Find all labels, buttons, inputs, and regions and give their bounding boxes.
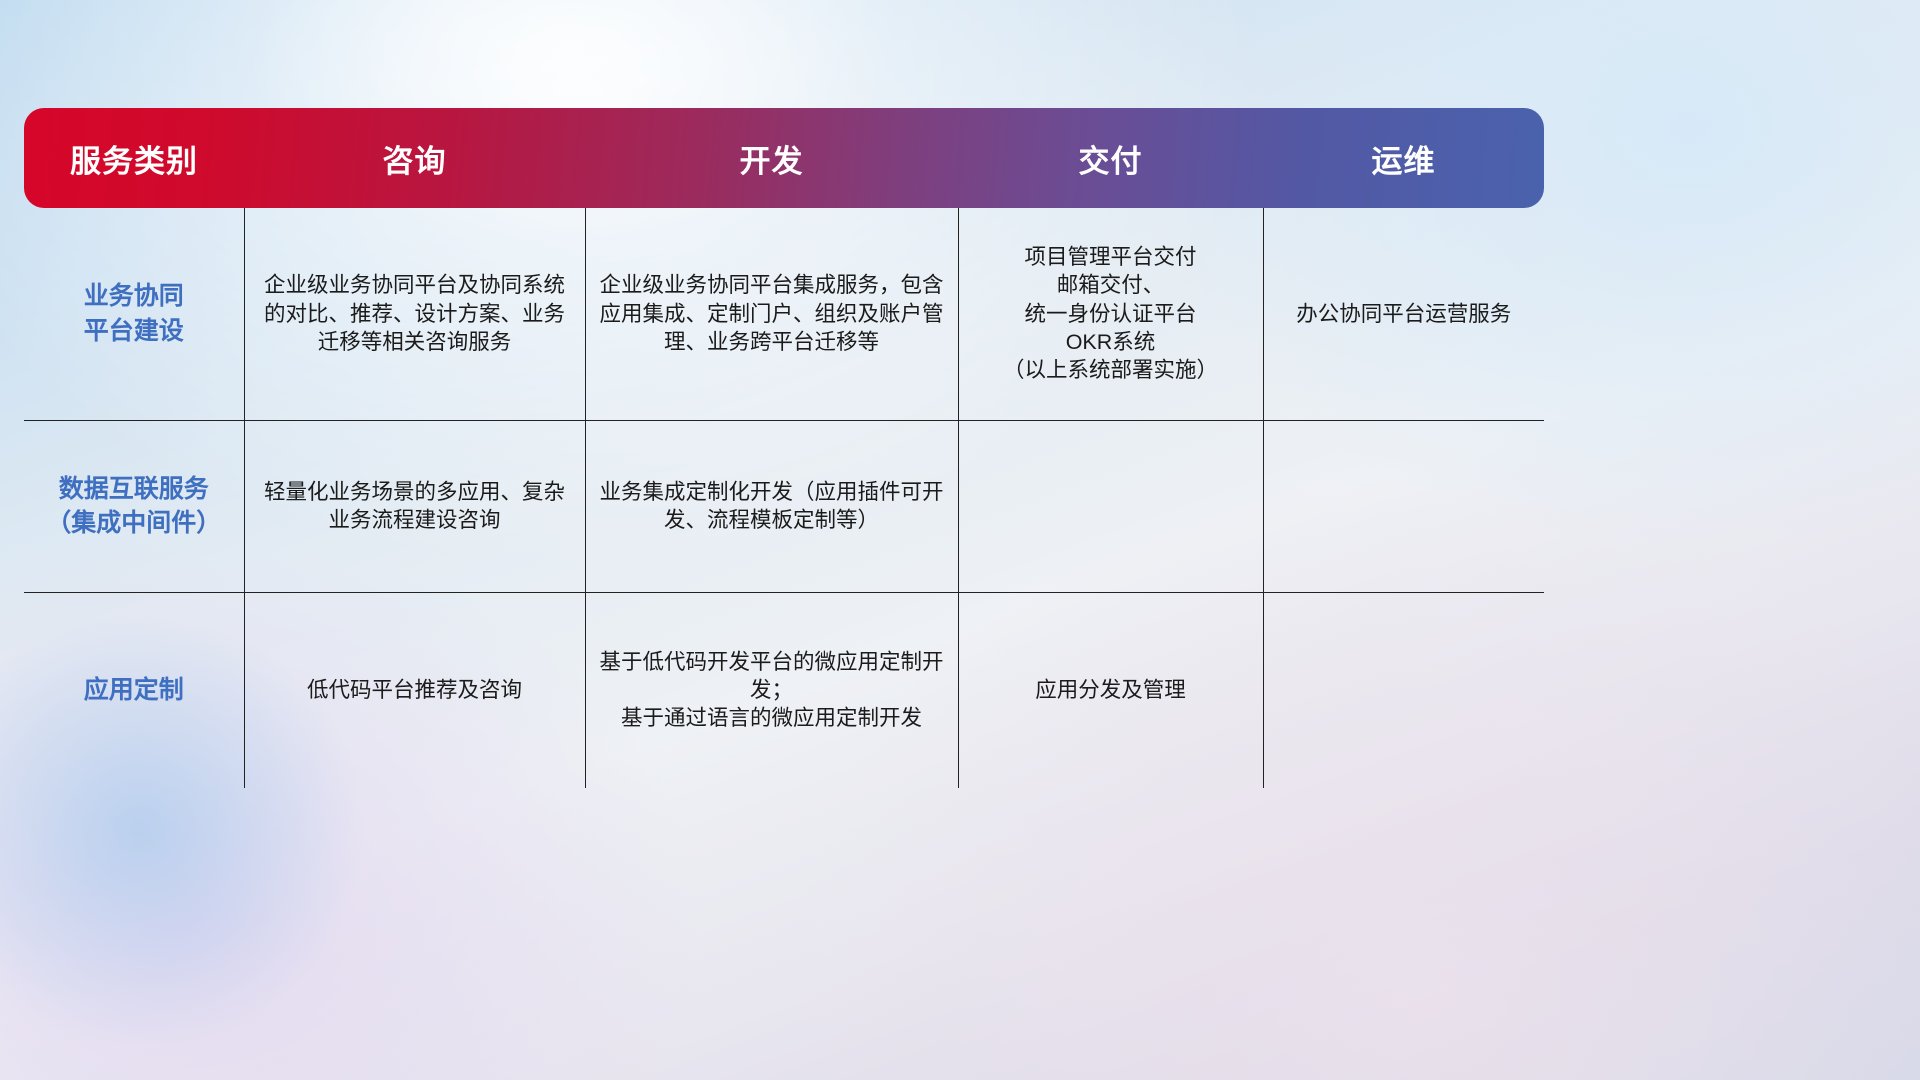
cell-category: 数据互联服务（集成中间件） [24, 420, 244, 592]
slide-canvas: 服务类别 咨询 开发 交付 运维 [0, 0, 1920, 1080]
table-body: 业务协同平台建设 企业级业务协同平台及协同系统的对比、推荐、设计方案、业务迁移等… [24, 208, 1544, 788]
cell-consulting: 轻量化业务场景的多应用、复杂业务流程建设咨询 [244, 420, 585, 592]
cell-operations [1263, 592, 1544, 788]
table-row: 应用定制 低代码平台推荐及咨询 基于低代码开发平台的微应用定制开发；基于通过语言… [24, 592, 1544, 788]
column-header-operations-label: 运维 [1263, 136, 1544, 181]
cell-delivery: 应用分发及管理 [958, 592, 1263, 788]
table-row: 数据互联服务（集成中间件） 轻量化业务场景的多应用、复杂业务流程建设咨询 业务集… [24, 420, 1544, 592]
cell-consulting: 企业级业务协同平台及协同系统的对比、推荐、设计方案、业务迁移等相关咨询服务 [244, 208, 585, 420]
cell-consulting: 低代码平台推荐及咨询 [244, 592, 585, 788]
table-row: 业务协同平台建设 企业级业务协同平台及协同系统的对比、推荐、设计方案、业务迁移等… [24, 208, 1544, 420]
column-header-category: 服务类别 [24, 108, 244, 208]
cell-delivery [958, 420, 1263, 592]
cell-development: 企业级业务协同平台集成服务，包含应用集成、定制门户、组织及账户管理、业务跨平台迁… [585, 208, 958, 420]
service-category-table: 服务类别 咨询 开发 交付 运维 [24, 108, 1544, 788]
column-header-development: 开发 [585, 108, 958, 208]
cell-development: 基于低代码开发平台的微应用定制开发；基于通过语言的微应用定制开发 [585, 592, 958, 788]
table-header: 服务类别 咨询 开发 交付 运维 [24, 108, 1544, 208]
column-header-consulting: 咨询 [244, 108, 585, 208]
column-header-consulting-label: 咨询 [244, 136, 585, 181]
column-header-delivery: 交付 [958, 108, 1263, 208]
cell-operations [1263, 420, 1544, 592]
column-header-development-label: 开发 [585, 136, 958, 181]
column-header-delivery-label: 交付 [958, 136, 1263, 181]
cell-delivery: 项目管理平台交付邮箱交付、统一身份认证平台OKR系统（以上系统部署实施） [958, 208, 1263, 420]
column-header-category-label: 服务类别 [24, 136, 244, 181]
column-header-operations: 运维 [1263, 108, 1544, 208]
cell-category: 业务协同平台建设 [24, 208, 244, 420]
service-matrix: 服务类别 咨询 开发 交付 运维 [24, 108, 1544, 788]
cell-category: 应用定制 [24, 592, 244, 788]
cell-operations: 办公协同平台运营服务 [1263, 208, 1544, 420]
cell-development: 业务集成定制化开发（应用插件可开发、流程模板定制等） [585, 420, 958, 592]
header-row: 服务类别 咨询 开发 交付 运维 [24, 108, 1544, 208]
